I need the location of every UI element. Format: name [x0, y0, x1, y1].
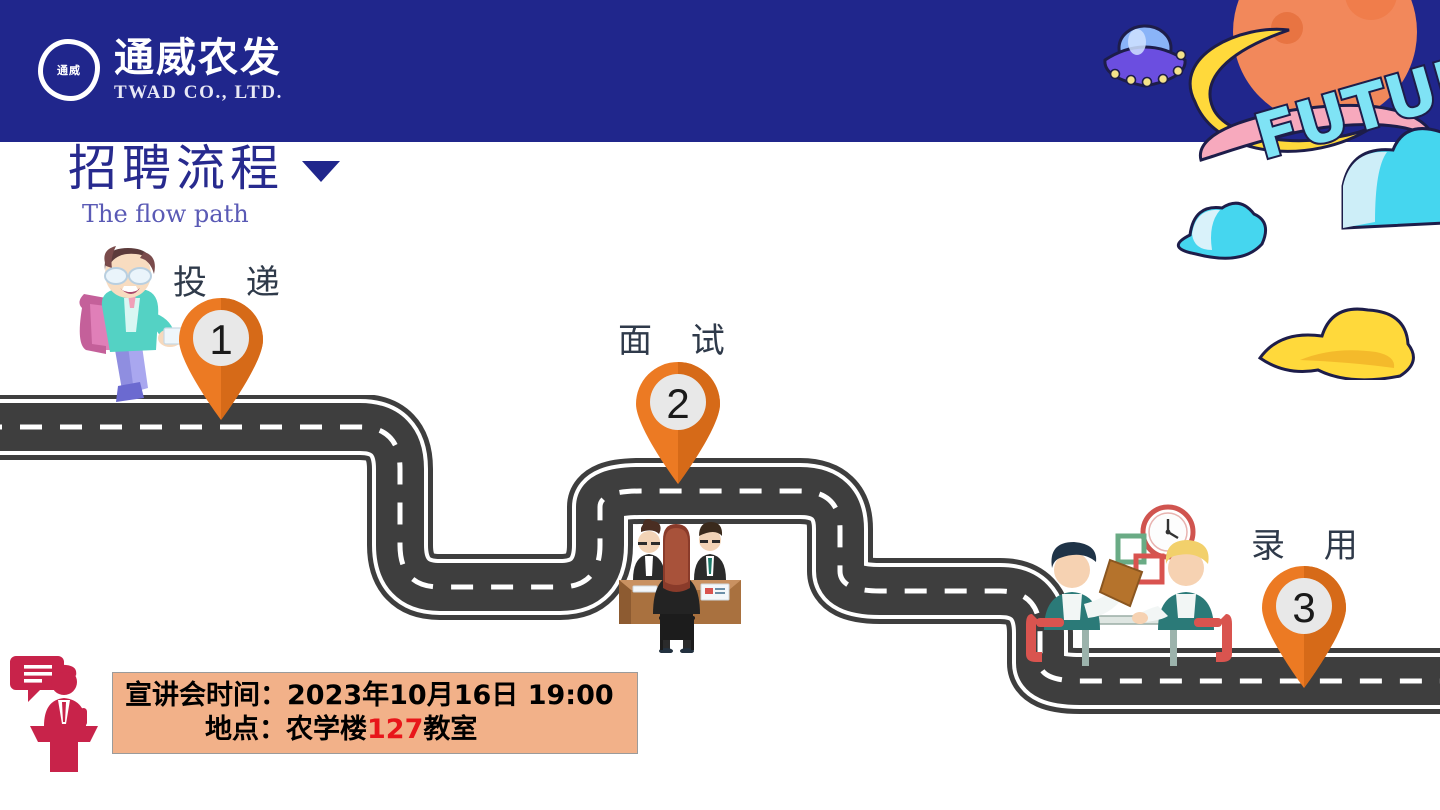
- page-title-block: 招聘流程 The flow path: [68, 143, 340, 228]
- step-label-3: 录 用: [1251, 518, 1372, 567]
- cloud-decoration-group: [1150, 180, 1440, 380]
- logo-company-cn: 通威农发: [114, 38, 283, 78]
- company-logo: 通威 通威农发 TWAD CO., LTD.: [38, 38, 283, 102]
- logo-company-en: TWAD CO., LTD.: [114, 83, 283, 102]
- event-location-building: 农学楼: [286, 714, 367, 745]
- step-number-2: 2: [632, 358, 724, 450]
- event-time-line: 宣讲会时间：2023年10月16日 19:00: [113, 679, 637, 713]
- event-location-suffix: 教室: [423, 714, 477, 745]
- event-time-value: 2023年10月16日 19:00: [287, 680, 614, 711]
- event-location-label: 地点：: [205, 714, 286, 745]
- yellow-swoosh-icon: [1260, 309, 1413, 380]
- event-time-label: 宣讲会时间：: [125, 680, 287, 711]
- step-label-2: 面 试: [618, 313, 739, 362]
- triangle-down-icon: [302, 161, 340, 182]
- step-number-3: 3: [1258, 562, 1350, 654]
- page-title: 招聘流程: [68, 143, 284, 194]
- page-subtitle: The flow path: [82, 200, 340, 228]
- logo-seal-icon: 通威: [38, 39, 100, 101]
- student-with-resume-icon: [66, 246, 184, 418]
- interview-panel-icon: [605, 518, 755, 653]
- speaker-podium-icon: [8, 648, 104, 772]
- logo-seal-text: 通威: [48, 57, 90, 83]
- step-number-1: 1: [175, 294, 267, 386]
- event-info-box: 宣讲会时间：2023年10月16日 19:00 地点：农学楼127教室: [112, 672, 638, 754]
- event-room-number: 127: [367, 714, 423, 745]
- event-location-line: 地点：农学楼127教室: [113, 713, 637, 747]
- step-marker-1[interactable]: 1: [175, 294, 267, 420]
- slide-canvas: 通威 通威农发 TWAD CO., LTD.: [0, 0, 1440, 810]
- cloud-small-icon: [1178, 203, 1265, 258]
- step-marker-2[interactable]: 2: [632, 358, 724, 484]
- cloud-swoosh-icon: [1343, 129, 1440, 228]
- offer-meeting-icon: [1018, 498, 1240, 670]
- step-marker-3[interactable]: 3: [1258, 562, 1350, 688]
